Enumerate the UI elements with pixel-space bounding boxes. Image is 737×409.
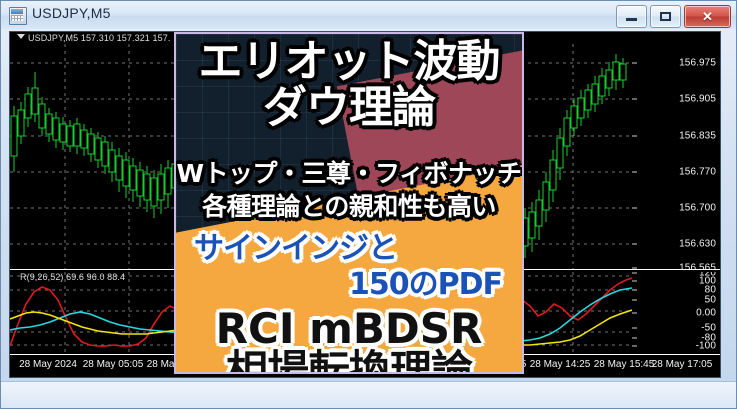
indicator-axis-tick: [632, 281, 637, 282]
price-axis-tick: [632, 99, 637, 100]
price-axis-label: 156.770: [679, 167, 716, 178]
window-title: USDJPY,M5: [32, 5, 111, 21]
collapse-caret-icon[interactable]: [17, 34, 25, 39]
price-axis-tick: [632, 63, 637, 64]
mt4-chart-icon: [9, 7, 27, 25]
price-axis-label: 156.835: [679, 131, 716, 142]
close-button[interactable]: ✕: [684, 5, 731, 28]
promo-line-2: ダウ理論: [176, 86, 522, 130]
time-axis-label: 28 May 17:05: [652, 359, 713, 370]
mt4-chart-window: USDJPY,M5 ✕ USDJPY,M5 157.310 157.321 15…: [0, 0, 737, 409]
title-bar[interactable]: USDJPY,M5 ✕: [1, 1, 736, 29]
price-axis-label: 156.700: [679, 203, 716, 214]
price-axis-tick: [632, 136, 637, 137]
price-axis-label: 156.630: [679, 239, 716, 250]
price-axis: 156.975 156.905 156.835 156.770 156.700 …: [632, 32, 720, 270]
indicator-axis-tick: [632, 338, 637, 339]
maximize-button[interactable]: [650, 5, 681, 28]
minimize-icon: [626, 18, 637, 21]
window-controls: ✕: [616, 5, 731, 26]
price-axis-label: 156.905: [679, 94, 716, 105]
time-axis-label: 28 May 14:25: [530, 359, 591, 370]
time-axis-label: 28 May 05:05: [83, 359, 144, 370]
indicator-axis-tick: [632, 313, 637, 314]
minimize-button[interactable]: [616, 5, 647, 28]
indicator-axis-tick: [632, 346, 637, 347]
price-axis-tick: [632, 208, 637, 209]
promo-line-6: 150のPDF: [176, 270, 522, 300]
indicator-axis-tick: [632, 273, 637, 274]
indicator-axis-tick: [632, 290, 637, 291]
indicator-axis-tick: [632, 300, 637, 301]
symbol-label: USDJPY,M5 157.310 157.321 157.: [17, 33, 170, 43]
promo-line-4: 各種理論との親和性も高い: [176, 194, 522, 219]
price-axis-tick: [632, 172, 637, 173]
promo-line-3: Wトップ・三尊・フィボナッチ: [176, 161, 522, 186]
indicator-axis: 120 100 80 50 0.00 -50 -80 -100: [632, 272, 720, 355]
indicator-axis-label: 50: [705, 295, 716, 306]
indicator-axis-label: -100: [696, 341, 716, 352]
promo-overlay: エリオット波動 ダウ理論 Wトップ・三尊・フィボナッチ 各種理論との親和性も高い…: [174, 32, 524, 374]
maximize-icon: [660, 12, 671, 21]
promo-line-7: RCI mBDSR: [176, 308, 522, 350]
price-axis-label: 156.975: [679, 58, 716, 69]
status-bar: [1, 381, 736, 408]
indicator-label: R(9,26,52) 69.6 96.0 88.4: [20, 272, 125, 282]
indicator-axis-label: 0.00: [696, 308, 716, 319]
time-axis-label: 28 May 15:45: [594, 359, 655, 370]
promo-text-block: エリオット波動 ダウ理論 Wトップ・三尊・フィボナッチ 各種理論との親和性も高い…: [176, 34, 522, 372]
promo-line-5: サインインジと: [176, 234, 522, 264]
promo-line-8: 相場転換理論: [176, 350, 522, 374]
promo-line-1: エリオット波動: [176, 40, 522, 84]
indicator-axis-tick: [632, 328, 637, 329]
time-axis-label: 28 May 2024: [19, 359, 77, 370]
price-axis-tick: [632, 244, 637, 245]
close-icon: ✕: [685, 6, 730, 27]
